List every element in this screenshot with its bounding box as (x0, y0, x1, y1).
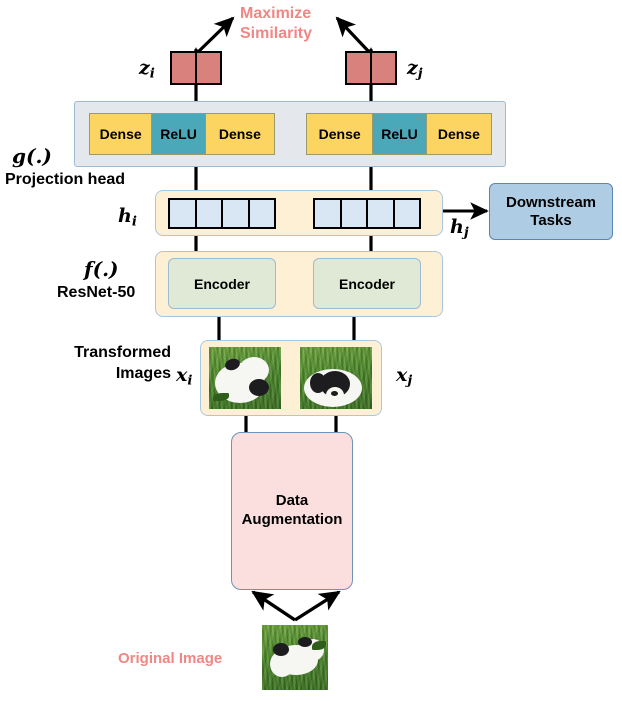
encoder-fn-label: f(.) (84, 257, 119, 281)
original-image (262, 625, 328, 690)
h-i-label: hi (118, 205, 137, 229)
z-cell (172, 53, 197, 83)
projection-head-label: Projection head (5, 171, 125, 189)
objective-line-1: Maximize (240, 4, 360, 24)
dog-head-mask (273, 643, 289, 656)
dog-nose (331, 391, 338, 396)
z-cell (197, 53, 220, 83)
projection-fn-label: g(.) (12, 144, 52, 168)
h-i-vector (168, 198, 276, 229)
z-j-label: zj (407, 57, 423, 81)
objective-line-2: Similarity (240, 24, 360, 44)
downstream-line-2: Tasks (506, 212, 596, 229)
augmentation-line-2: Augmentation (242, 511, 343, 530)
downstream-tasks-box[interactable]: Downstream Tasks (489, 183, 613, 240)
dense-block-1[interactable]: Dense (90, 114, 152, 154)
x-j-symbol: x (396, 364, 407, 386)
x-i-symbol: x (176, 364, 187, 386)
projection-head-right: Dense ReLU Dense (306, 113, 492, 155)
data-augmentation-box[interactable]: Data Augmentation (231, 432, 353, 590)
resnet-label: ResNet-50 (57, 284, 135, 302)
z-j-vector (345, 51, 397, 85)
maximize-similarity-label: Maximize Similarity (240, 4, 360, 44)
h-i-subscript: i (132, 214, 137, 229)
h-cell (342, 200, 369, 227)
h-cell (223, 200, 250, 227)
dog-dark-patch (249, 379, 269, 396)
z-cell (372, 53, 395, 83)
encoder-right[interactable]: Encoder (313, 258, 421, 309)
z-cell (347, 53, 372, 83)
h-j-subscript: j (464, 225, 469, 240)
projection-head-left: Dense ReLU Dense (89, 113, 275, 155)
h-cell (250, 200, 275, 227)
dog-ear (310, 373, 326, 393)
transformed-image-i (209, 347, 281, 409)
transformed-image-j (300, 347, 372, 409)
z-i-vector (170, 51, 222, 85)
transformed-images-label: Transformed Images (46, 343, 171, 385)
h-i-symbol: h (118, 205, 132, 227)
encoder-left[interactable]: Encoder (168, 258, 276, 309)
x-i-subscript: i (187, 373, 192, 388)
x-i-label: xi (176, 364, 192, 388)
h-cell (197, 200, 224, 227)
dense-block-1[interactable]: Dense (307, 114, 373, 154)
h-cell (315, 200, 342, 227)
x-j-subscript: j (407, 373, 412, 388)
augmentation-line-1: Data (242, 492, 343, 511)
x-j-label: xj (396, 364, 412, 388)
relu-block-1[interactable]: ReLU (152, 114, 205, 154)
z-j-subscript: j (418, 66, 423, 81)
dog-back-patch (298, 637, 312, 647)
relu-block-1[interactable]: ReLU (373, 114, 426, 154)
z-i-label: zi (139, 57, 155, 81)
h-j-label: hj (450, 216, 469, 240)
z-j-symbol: z (407, 57, 418, 79)
z-i-subscript: i (150, 66, 155, 81)
z-i-symbol: z (139, 57, 150, 79)
h-cell (170, 200, 197, 227)
dense-block-2[interactable]: Dense (206, 114, 274, 154)
downstream-line-1: Downstream (506, 194, 596, 211)
h-j-symbol: h (450, 216, 464, 238)
transformed-line-2: Images (46, 364, 171, 385)
original-image-label: Original Image (118, 650, 222, 667)
h-cell (368, 200, 395, 227)
h-cell (395, 200, 420, 227)
h-j-vector (313, 198, 421, 229)
transformed-line-1: Transformed (46, 343, 171, 364)
dense-block-2[interactable]: Dense (427, 114, 491, 154)
